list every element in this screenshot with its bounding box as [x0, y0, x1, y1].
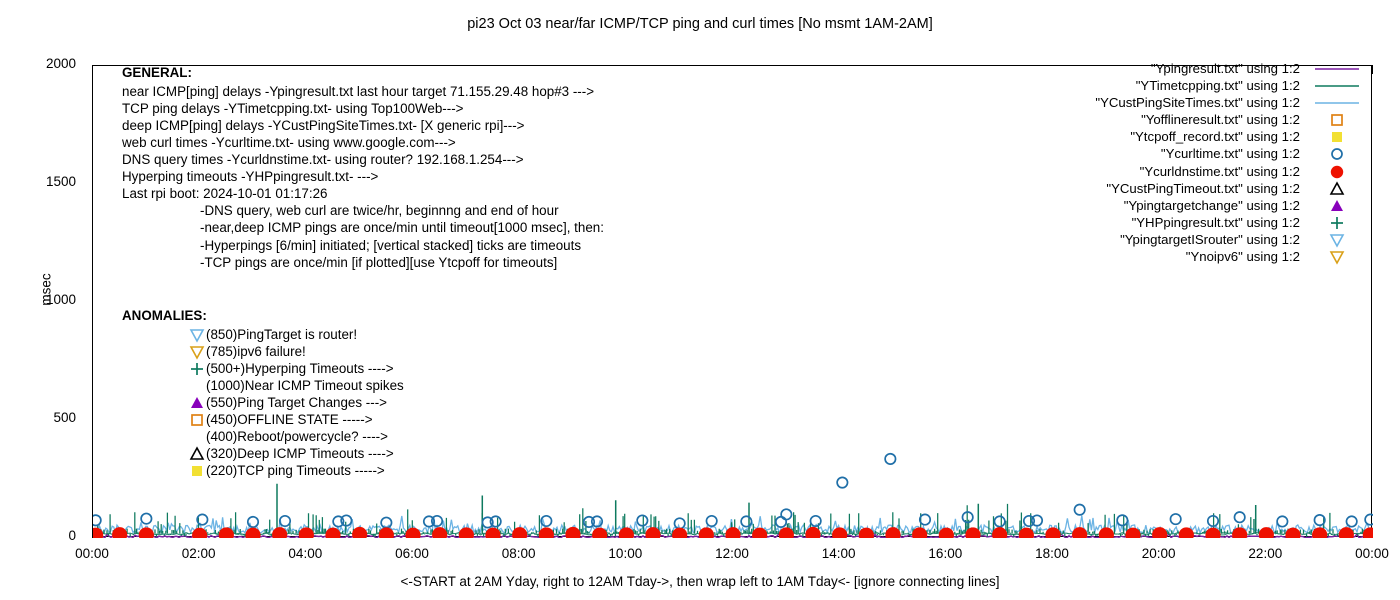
x-tick-label: 14:00: [804, 546, 874, 561]
legend-row[interactable]: "Yofflineresult.txt" using 1:2: [1000, 111, 1300, 128]
x-tick-label: 04:00: [270, 546, 340, 561]
legend-row[interactable]: "YCustPingTimeout.txt" using 1:2: [1000, 180, 1300, 197]
legend-label: "Ypingresult.txt" using 1:2: [1151, 60, 1300, 77]
x-tick-label: 08:00: [484, 546, 554, 561]
x-tick-label: 12:00: [697, 546, 767, 561]
anomaly-line: (320)Deep ICMP Timeouts ---->: [206, 447, 394, 460]
legend-row[interactable]: "Ynoipv6" using 1:2: [1000, 248, 1300, 265]
y-axis-title: msec: [39, 230, 54, 350]
legend-row[interactable]: "YTimetcpping.txt" using 1:2: [1000, 77, 1300, 94]
anomaly-line: (785)ipv6 failure!: [206, 345, 306, 358]
legend-key-tri-down-open-icon: [1306, 248, 1368, 265]
legend-label: "YHPpingresult.txt" using 1:2: [1132, 214, 1300, 231]
general-note-line: -near,deep ICMP pings are once/min until…: [200, 221, 604, 234]
anomaly-marker-icon: [188, 462, 206, 485]
x-tick-label: 00:00: [57, 546, 127, 561]
legend-key-line-icon: [1306, 60, 1368, 77]
legend-label: "YCustPingTimeout.txt" using 1:2: [1106, 180, 1300, 197]
legend-row[interactable]: "YpingtargetISrouter" using 1:2: [1000, 231, 1300, 248]
general-note-line: -DNS query, web curl are twice/hr, begin…: [200, 204, 559, 217]
general-line: DNS query times -Ycurldnstime.txt- using…: [122, 153, 524, 166]
general-heading: GENERAL:: [122, 66, 192, 79]
anomaly-line: (550)Ping Target Changes --->: [206, 396, 387, 409]
anomalies-heading: ANOMALIES:: [122, 309, 207, 322]
legend-label: "YCustPingSiteTimes.txt" using 1:2: [1095, 94, 1300, 111]
x-tick-label: 18:00: [1017, 546, 1087, 561]
legend-key-circle-filled-icon: [1306, 163, 1368, 180]
anomaly-line: (450)OFFLINE STATE ----->: [206, 413, 373, 426]
legend-key-line-icon: [1306, 77, 1368, 94]
legend-row[interactable]: "YHPpingresult.txt" using 1:2: [1000, 214, 1300, 231]
general-line: Last rpi boot: 2024-10-01 01:17:26: [122, 187, 327, 200]
general-note-line: -Hyperpings [6/min] initiated; [vertical…: [200, 239, 581, 252]
y-tick-label: 0: [6, 528, 76, 543]
legend-label: "Ycurltime.txt" using 1:2: [1161, 145, 1300, 162]
legend-label: "YpingtargetISrouter" using 1:2: [1120, 231, 1300, 248]
legend-label: "Ytcpoff_record.txt" using 1:2: [1130, 128, 1300, 145]
legend-row[interactable]: "Ypingresult.txt" using 1:2: [1000, 60, 1300, 77]
legend-label: "Ynoipv6" using 1:2: [1186, 248, 1300, 265]
legend-key-tri-up-open-icon: [1306, 180, 1368, 197]
legend-key-circle-open-icon: [1306, 145, 1368, 162]
legend-row[interactable]: "Ypingtargetchange" using 1:2: [1000, 197, 1300, 214]
x-tick-label: 02:00: [164, 546, 234, 561]
x-tick-label: 00:00: [1337, 546, 1400, 561]
general-line: near ICMP[ping] delays -Ypingresult.txt …: [122, 85, 594, 98]
legend-row[interactable]: "Ytcpoff_record.txt" using 1:2: [1000, 128, 1300, 145]
anomaly-line: (400)Reboot/powercycle? ---->: [206, 430, 388, 443]
anomaly-line: (500+)Hyperping Timeouts ---->: [206, 362, 394, 375]
y-tick-label: 1000: [6, 292, 76, 307]
legend-key-line-icon: [1306, 94, 1368, 111]
anomaly-marker-icon: [188, 360, 206, 383]
x-tick-label: 10:00: [590, 546, 660, 561]
legend-label: "YTimetcpping.txt" using 1:2: [1136, 77, 1300, 94]
anomaly-marker-icon: [188, 411, 206, 434]
x-tick-label: 16:00: [910, 546, 980, 561]
general-line: web curl times -Ycurltime.txt- using www…: [122, 136, 456, 149]
legend-label: "Ycurldnstime.txt" using 1:2: [1140, 163, 1300, 180]
legend: "Ypingresult.txt" using 1:2"YTimetcpping…: [1000, 60, 1300, 265]
y-tick-label: 500: [6, 410, 76, 425]
legend-row[interactable]: "Ycurldnstime.txt" using 1:2: [1000, 163, 1300, 180]
chart-page: pi23 Oct 03 near/far ICMP/TCP ping and c…: [0, 0, 1400, 600]
anomaly-line: (1000)Near ICMP Timeout spikes: [206, 379, 404, 392]
page-title: pi23 Oct 03 near/far ICMP/TCP ping and c…: [0, 16, 1400, 32]
y-tick-label: 2000: [6, 56, 76, 71]
legend-label: "Yofflineresult.txt" using 1:2: [1141, 111, 1300, 128]
general-note-line: -TCP pings are once/min [if plotted][use…: [200, 256, 557, 269]
legend-row[interactable]: "YCustPingSiteTimes.txt" using 1:2: [1000, 94, 1300, 111]
legend-key-tri-up-filled-icon: [1306, 197, 1368, 214]
general-line: Hyperping timeouts -YHPpingresult.txt- -…: [122, 170, 378, 183]
general-line: TCP ping delays -YTimetcpping.txt- using…: [122, 102, 464, 115]
x-tick-label: 06:00: [377, 546, 447, 561]
y-tick-label: 1500: [6, 174, 76, 189]
anomaly-line: (220)TCP ping Timeouts ----->: [206, 464, 385, 477]
general-line: deep ICMP[ping] delays -YCustPingSiteTim…: [122, 119, 525, 132]
legend-key-square-open-icon: [1306, 111, 1368, 128]
legend-row[interactable]: "Ycurltime.txt" using 1:2: [1000, 145, 1300, 162]
legend-label: "Ypingtargetchange" using 1:2: [1124, 197, 1300, 214]
anomaly-line: (850)PingTarget is router!: [206, 328, 357, 341]
x-tick-label: 22:00: [1230, 546, 1300, 561]
legend-key-tri-down-open-icon: [1306, 231, 1368, 248]
legend-key-plus-icon: [1306, 214, 1368, 231]
legend-key-square-filled-icon: [1306, 128, 1368, 145]
x-axis-title: <-START at 2AM Yday, right to 12AM Tday-…: [0, 574, 1400, 589]
x-tick-label: 20:00: [1124, 546, 1194, 561]
